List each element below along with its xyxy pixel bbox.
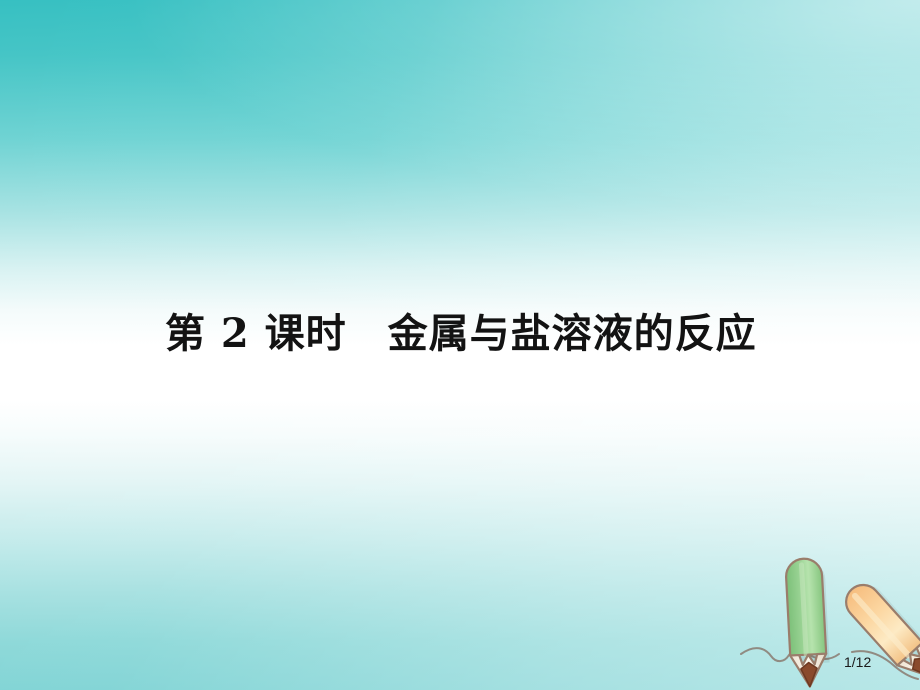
background-top-right-glow [0, 0, 920, 300]
page-title-text: 第 2 课时 金属与盐溶液的反应 [165, 314, 757, 354]
slide-canvas: 第 2 课时 金属与盐溶液的反应 [0, 0, 920, 690]
page-number: 1/12 [844, 655, 871, 669]
page-title: 第 2 课时 金属与盐溶液的反应 [165, 298, 785, 370]
pencils-decoration [735, 548, 920, 690]
pencil-green [785, 558, 831, 688]
pencil-orange [839, 576, 920, 688]
